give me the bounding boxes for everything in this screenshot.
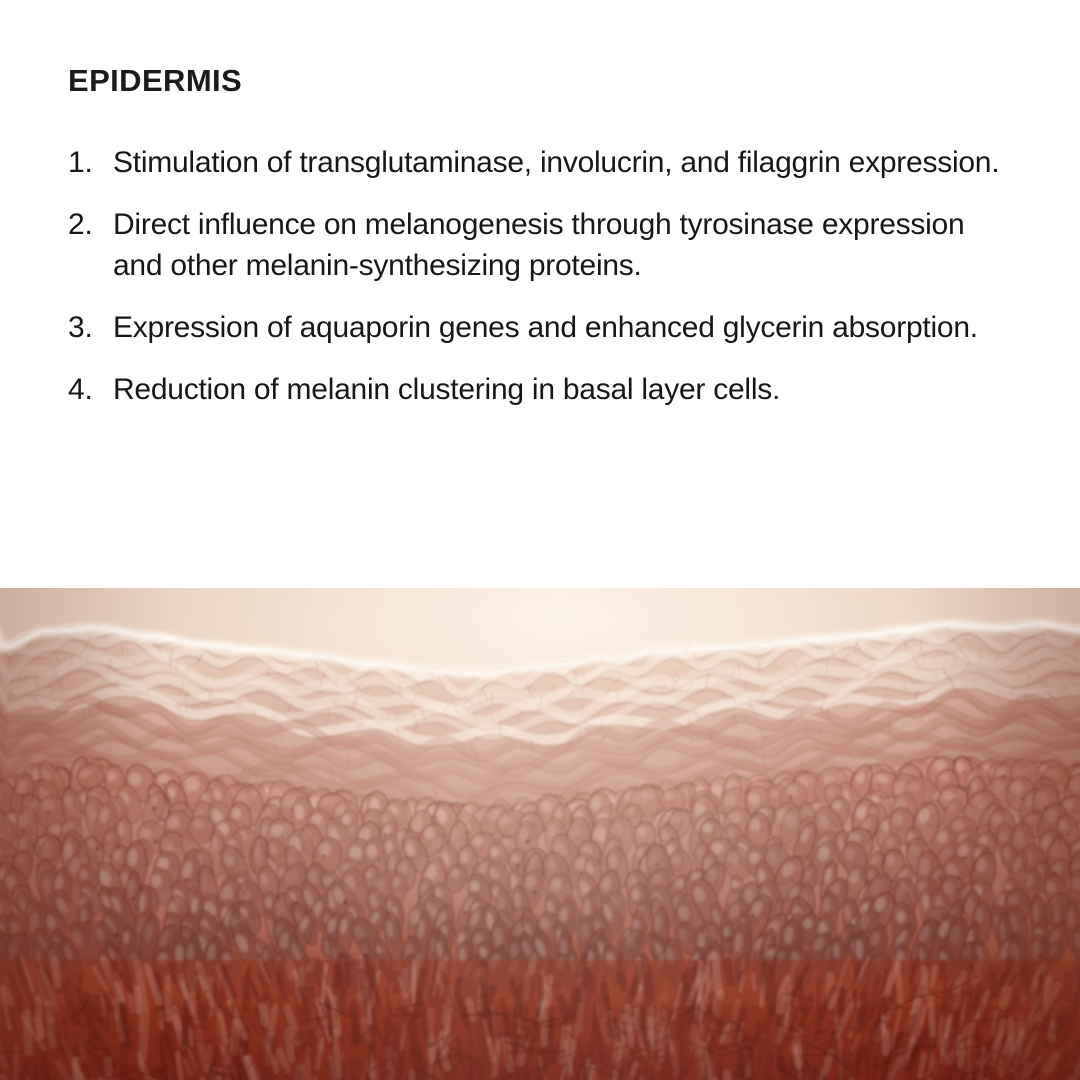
benefit-item: 1.Stimulation of transglutaminase, invol… bbox=[68, 142, 1038, 183]
epidermis-cross-section-graphic bbox=[0, 588, 1080, 1080]
benefit-item-text: Reduction of melanin clustering in basal… bbox=[113, 369, 1013, 410]
epidermis-illustration bbox=[0, 588, 1080, 1080]
benefit-list: 1.Stimulation of transglutaminase, invol… bbox=[68, 142, 1038, 410]
benefit-item: 3.Expression of aquaporin genes and enha… bbox=[68, 307, 1038, 348]
benefit-item-marker: 4. bbox=[68, 369, 113, 410]
benefit-item: 2.Direct influence on melanogenesis thro… bbox=[68, 204, 1038, 286]
benefit-item-text: Stimulation of transglutaminase, involuc… bbox=[113, 142, 1013, 183]
benefit-item-text: Direct influence on melanogenesis throug… bbox=[113, 204, 1013, 286]
text-panel: EPIDERMIS 1.Stimulation of transglutamin… bbox=[0, 0, 1080, 588]
benefit-item-text: Expression of aquaporin genes and enhanc… bbox=[113, 307, 1013, 348]
benefit-item-marker: 1. bbox=[68, 142, 113, 183]
benefit-item-marker: 2. bbox=[68, 204, 113, 245]
benefit-item: 4.Reduction of melanin clustering in bas… bbox=[68, 369, 1038, 410]
page-title: EPIDERMIS bbox=[68, 63, 242, 99]
benefit-item-marker: 3. bbox=[68, 307, 113, 348]
